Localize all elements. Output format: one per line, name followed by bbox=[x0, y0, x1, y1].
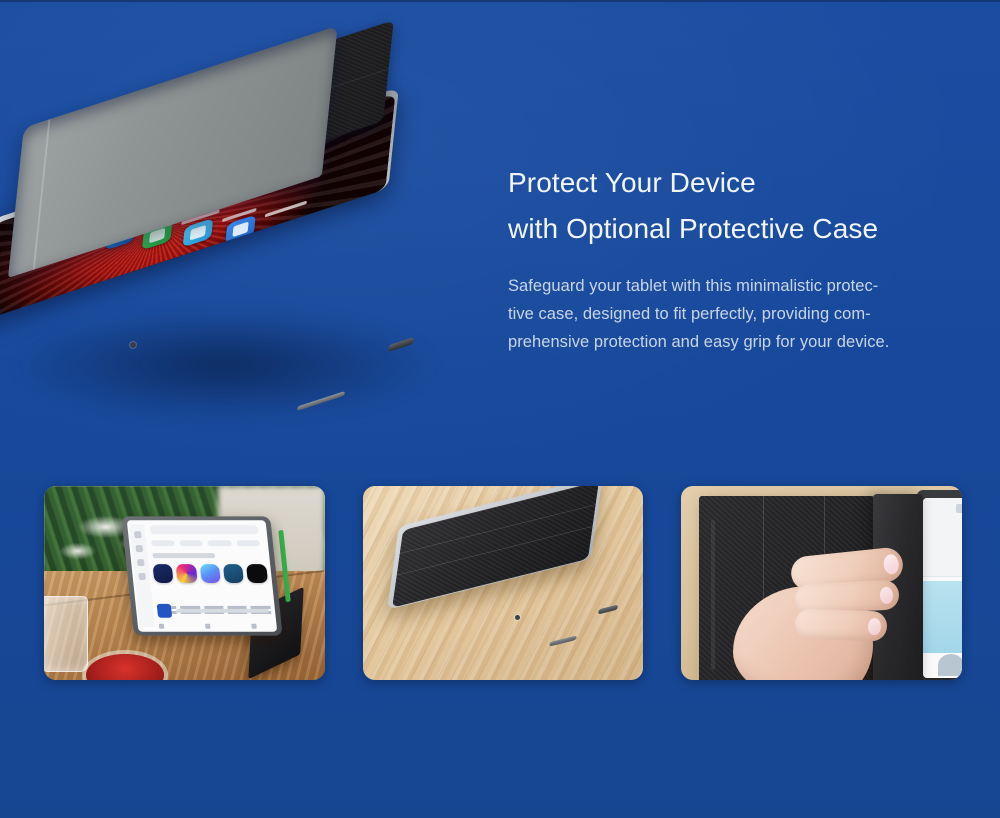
tablet-device bbox=[121, 516, 282, 635]
app-icon-instagram[interactable] bbox=[176, 564, 198, 583]
avatar bbox=[938, 654, 962, 676]
screen-ui bbox=[923, 498, 962, 678]
fingernail-2 bbox=[880, 587, 894, 605]
app-icon-disney-plus[interactable] bbox=[152, 564, 174, 583]
fingernail-1 bbox=[883, 554, 900, 575]
ui-panel-blue bbox=[923, 581, 962, 653]
hand-graphic bbox=[733, 552, 903, 680]
app-label-6 bbox=[265, 201, 307, 218]
search-input[interactable] bbox=[149, 525, 258, 534]
sidebar-icon-4 bbox=[138, 573, 146, 580]
suggested-app-title bbox=[176, 609, 270, 613]
product-feature-banner: Protect Your Device with Optional Protec… bbox=[0, 0, 1000, 818]
headline-line-1: Protect Your Device bbox=[508, 167, 756, 198]
body-line-1: Safeguard your tablet with this minimali… bbox=[508, 272, 988, 300]
suggested-row[interactable] bbox=[156, 604, 270, 618]
sidebar-icon-3 bbox=[137, 559, 145, 566]
water-glass bbox=[44, 596, 88, 672]
nav-recents-icon[interactable] bbox=[251, 624, 257, 629]
nav-back-icon[interactable] bbox=[158, 624, 164, 629]
app-icon-prime-video[interactable] bbox=[223, 564, 245, 583]
tab-games[interactable] bbox=[151, 540, 175, 546]
hero-product-image bbox=[0, 110, 480, 390]
camera-hole-icon bbox=[515, 615, 520, 620]
app-icon-tiktok[interactable] bbox=[246, 564, 268, 583]
tablet-illustration bbox=[0, 110, 480, 390]
gallery-card-tablet-on-table[interactable] bbox=[44, 486, 325, 680]
headline-line-2: with Optional Protective Case bbox=[508, 206, 988, 252]
app-icon-row[interactable] bbox=[152, 564, 268, 583]
ring-finger bbox=[795, 608, 888, 641]
bottom-nav-bar[interactable] bbox=[138, 623, 277, 630]
case-spine bbox=[711, 520, 715, 670]
play-store-screen bbox=[127, 520, 277, 631]
tab-books[interactable] bbox=[236, 540, 260, 546]
sidebar-icon-1 bbox=[134, 531, 142, 538]
status-time bbox=[269, 218, 298, 230]
section-heading bbox=[152, 553, 215, 558]
fingernail-3 bbox=[868, 618, 882, 635]
sidebar-icon-2 bbox=[135, 545, 143, 552]
category-tabs[interactable] bbox=[151, 540, 260, 546]
tablet-screen-revealed bbox=[917, 490, 962, 680]
tab-apps[interactable] bbox=[179, 540, 203, 546]
body-line-3: prehensive protection and easy grip for … bbox=[508, 328, 988, 356]
gallery-card-hand-opening-case[interactable] bbox=[681, 486, 962, 680]
tab-movies[interactable] bbox=[208, 540, 232, 546]
nav-home-icon[interactable] bbox=[205, 624, 211, 629]
hero-description: Safeguard your tablet with this minimali… bbox=[508, 272, 988, 356]
usb-port bbox=[388, 337, 413, 352]
top-divider bbox=[0, 0, 1000, 2]
hero-copy-block: Protect Your Device with Optional Protec… bbox=[508, 160, 988, 356]
app-icon-canva[interactable] bbox=[199, 564, 221, 583]
gallery-row bbox=[44, 486, 962, 680]
menu-icon bbox=[956, 504, 962, 513]
page-title: Protect Your Device with Optional Protec… bbox=[508, 160, 988, 252]
front-camera-icon bbox=[130, 342, 136, 348]
body-line-2: tive case, designed to fit perfectly, pr… bbox=[508, 300, 988, 328]
gallery-card-closed-case[interactable] bbox=[363, 486, 644, 680]
suggested-app-icon[interactable] bbox=[156, 604, 172, 618]
